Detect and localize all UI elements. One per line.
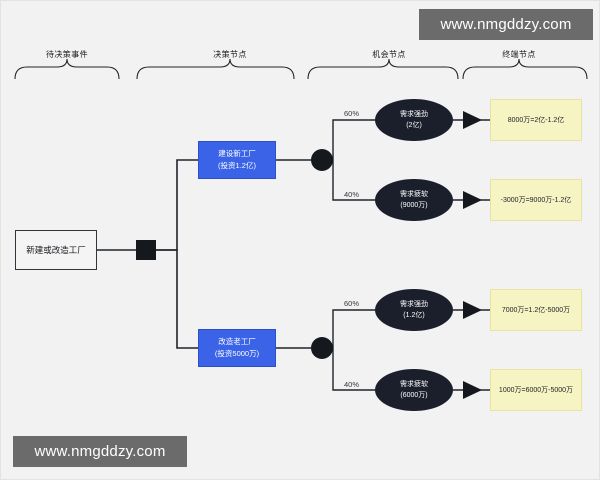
decision-option-subtitle: (投资1.2亿) [218,160,256,172]
decision-option-title: 改造老工厂 [218,336,256,348]
decision-node-square[interactable] [136,240,156,260]
terminal-payoff-label: 7000万=1.2亿-5000万 [502,305,570,315]
outcome-state-label: 需求强劲 [400,109,428,120]
outcome-node-strong-demand-new[interactable]: 需求强劲 (2亿) [375,99,453,141]
root-node[interactable]: 新建或改造工厂 [15,230,97,270]
brace-col-3 [308,59,458,79]
column-header-4: 终端节点 [467,49,571,60]
column-header-2: 决策节点 [178,49,282,60]
chance-node-renovate-old[interactable] [311,337,333,359]
probability-label: 60% [344,109,359,118]
terminal-payoff-label: 8000万=2亿-1.2亿 [508,115,565,125]
root-node-label: 新建或改造工厂 [26,244,86,256]
terminal-node-payoff[interactable]: 7000万=1.2亿-5000万 [490,289,582,331]
chance-node-build-new[interactable] [311,149,333,171]
outcome-value-label: (6000万) [400,390,427,401]
arrowhead [463,381,482,399]
watermark-top: www.nmgddzy.com [419,9,593,40]
brace-col-4 [463,59,587,79]
arrowhead [463,301,482,319]
terminal-node-payoff[interactable]: 1000万=6000万-5000万 [490,369,582,411]
outcome-node-strong-demand-old[interactable]: 需求强劲 (1.2亿) [375,289,453,331]
outcome-value-label: (1.2亿) [403,310,424,321]
brace-col-2 [137,59,294,79]
terminal-node-payoff[interactable]: -3000万=9000万-1.2亿 [490,179,582,221]
outcome-state-label: 需求强劲 [400,299,428,310]
arrowhead [463,191,482,209]
terminal-node-payoff[interactable]: 8000万=2亿-1.2亿 [490,99,582,141]
decision-option-build-new[interactable]: 建设新工厂 (投资1.2亿) [198,141,276,179]
watermark-bottom: www.nmgddzy.com [13,436,187,467]
decision-tree-diagram: 待决策事件 决策节点 机会节点 终端节点 新建或改造工厂 建设新工厂 (投资1.… [0,0,600,480]
terminal-payoff-label: -3000万=9000万-1.2亿 [501,195,572,205]
outcome-node-weak-demand-new[interactable]: 需求疲软 (9000万) [375,179,453,221]
decision-option-title: 建设新工厂 [218,148,256,160]
arrowhead [463,111,482,129]
outcome-node-weak-demand-old[interactable]: 需求疲软 (6000万) [375,369,453,411]
probability-label: 40% [344,190,359,199]
outcome-state-label: 需求疲软 [400,379,428,390]
probability-label: 40% [344,380,359,389]
column-header-1: 待决策事件 [15,49,119,60]
decision-option-subtitle: (投资5000万) [215,348,259,360]
decision-option-renovate-old[interactable]: 改造老工厂 (投资5000万) [198,329,276,367]
outcome-value-label: (2亿) [406,120,422,131]
terminal-payoff-label: 1000万=6000万-5000万 [499,385,573,395]
outcome-state-label: 需求疲软 [400,189,428,200]
column-header-3: 机会节点 [337,49,441,60]
outcome-value-label: (9000万) [400,200,427,211]
brace-col-1 [15,59,119,79]
probability-label: 60% [344,299,359,308]
